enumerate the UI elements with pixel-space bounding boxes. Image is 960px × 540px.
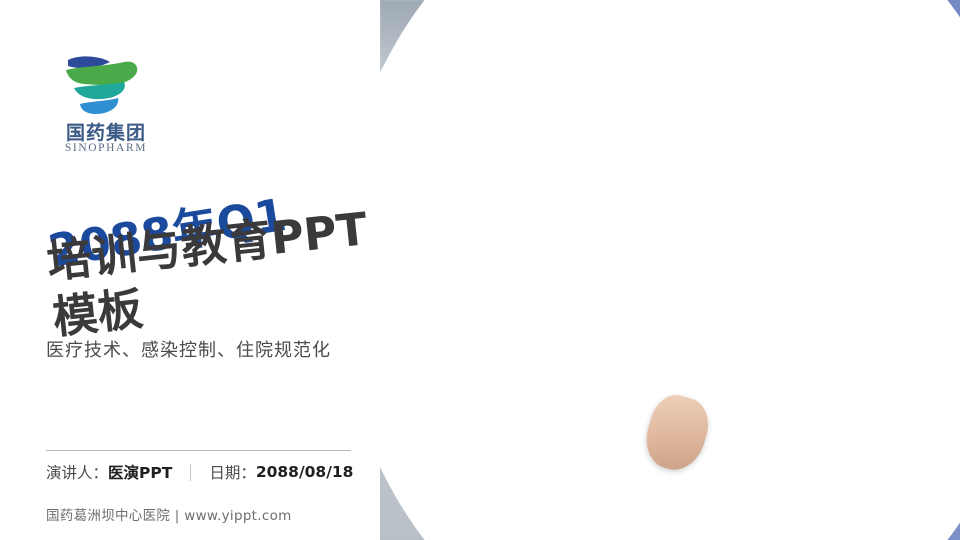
white-curve-divider: [336, 0, 960, 540]
speaker-value: 医演PPT: [108, 461, 172, 483]
logo-en-name: SINOPHARM: [46, 142, 166, 154]
date-label: 日期：: [209, 461, 256, 483]
speaker-label: 演讲人：: [46, 461, 108, 483]
footer-text: 国药葛洲坝中心医院 | www.yippt.com: [46, 504, 292, 524]
presenter-meta: 演讲人： 医演PPT 日期： 2088/08/18: [46, 461, 353, 483]
subtitle: 医疗技术、感染控制、住院规范化: [46, 336, 331, 362]
divider: [46, 450, 351, 451]
slide-canvas: 国药集团 SINOPHARM 2088年Q1 培训与教育PPT模板 医疗技术、感…: [0, 0, 960, 540]
page-title: 2088年Q1 培训与教育PPT模板: [44, 203, 384, 229]
meta-separator: [190, 464, 191, 481]
content-column: 国药集团 SINOPHARM 2088年Q1 培训与教育PPT模板 医疗技术、感…: [0, 0, 420, 540]
logo-cn-name: 国药集团: [46, 118, 166, 145]
ribbon-swoosh-icon: [54, 52, 158, 118]
sinopharm-logo: 国药集团 SINOPHARM: [46, 52, 166, 164]
date-value: 2088/08/18: [256, 463, 354, 481]
